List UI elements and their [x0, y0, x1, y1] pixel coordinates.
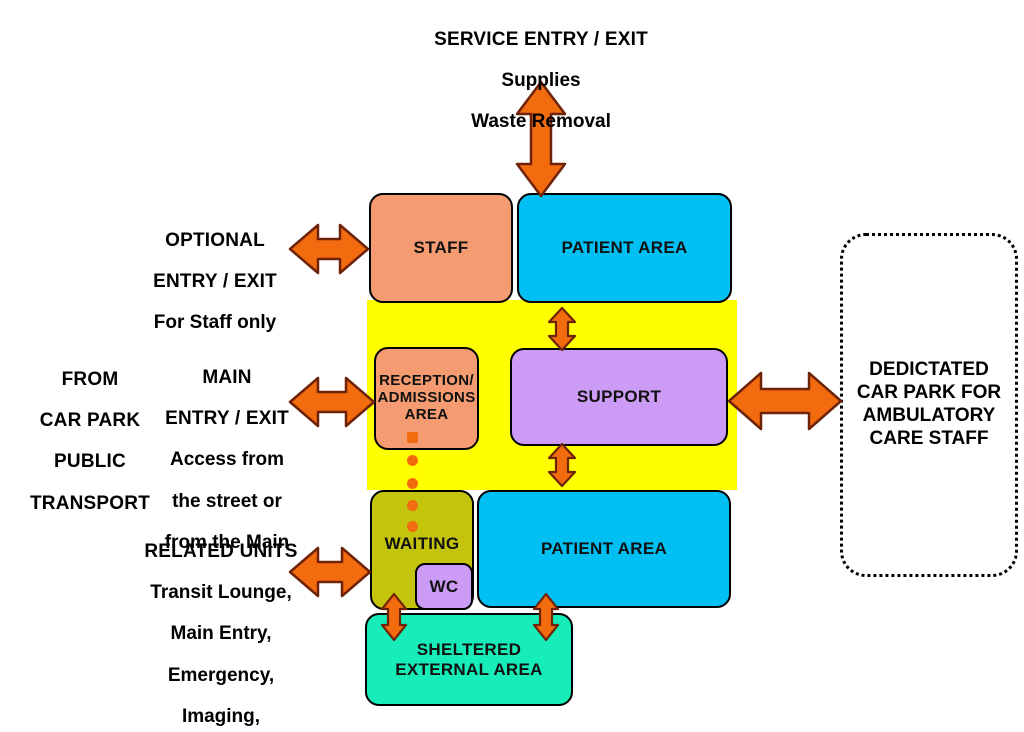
label-main-entry-line2: ENTRY / EXIT: [160, 408, 294, 430]
connector-dot: [407, 500, 418, 511]
connector-dot: [407, 478, 418, 489]
connector-dot: [407, 455, 418, 466]
block-patient-area-top-label: PATIENT AREA: [561, 238, 687, 257]
carpark-label: DEDICTATED CAR PARK FOR AMBULATORY CARE …: [857, 359, 1001, 450]
label-from-car-park-line4: TRANSPORT: [16, 493, 164, 515]
block-patient-area-bottom-label: PATIENT AREA: [541, 539, 667, 558]
label-from-car-park-line1: FROM: [16, 369, 164, 391]
label-main-entry-line4: the street or: [160, 491, 294, 513]
arrow-main-entry[interactable]: [288, 375, 376, 429]
arrow-support-lower[interactable]: [546, 442, 578, 488]
label-optional-entry-line3: For Staff only: [140, 312, 290, 334]
arrow-waiting-sheltered[interactable]: [379, 592, 409, 642]
label-optional-entry: OPTIONAL ENTRY / EXIT For Staff only: [140, 211, 290, 354]
arrow-carpark[interactable]: [727, 370, 843, 432]
label-related-units-line4: Emergency,: [126, 665, 316, 687]
arrow-support-upper[interactable]: [546, 306, 578, 352]
label-related-units-line2: Transit Lounge,: [126, 582, 316, 604]
label-optional-entry-line2: ENTRY / EXIT: [140, 271, 290, 293]
block-sheltered-label: SHELTERED EXTERNAL AREA: [395, 640, 542, 678]
block-patient-area-bottom[interactable]: PATIENT AREA: [477, 490, 731, 608]
label-related-units: RELATED UNITS Transit Lounge, Main Entry…: [126, 522, 316, 732]
label-optional-entry-line1: OPTIONAL: [140, 230, 290, 252]
label-service-entry-line1: SERVICE ENTRY / EXIT: [391, 29, 691, 51]
label-from-car-park-line3: PUBLIC: [16, 451, 164, 473]
block-staff[interactable]: STAFF: [369, 193, 513, 303]
block-waiting-label: WAITING: [385, 534, 460, 553]
block-staff-label: STAFF: [413, 238, 468, 257]
label-related-units-line3: Main Entry,: [126, 623, 316, 645]
block-reception-admissions[interactable]: RECEPTION/ ADMISSIONS AREA: [374, 347, 479, 450]
block-support-label: SUPPORT: [577, 387, 661, 406]
connector-dot: [407, 432, 418, 443]
label-related-units-line5: Imaging,: [126, 706, 316, 728]
label-from-car-park: FROM CAR PARK PUBLIC TRANSPORT: [16, 350, 164, 534]
label-service-entry-line3: Waste Removal: [391, 111, 691, 133]
label-from-car-park-line2: CAR PARK: [16, 410, 164, 432]
label-main-entry-line3: Access from: [160, 449, 294, 471]
block-patient-area-top[interactable]: PATIENT AREA: [517, 193, 732, 303]
label-main-entry-line1: MAIN: [160, 367, 294, 389]
label-service-entry: SERVICE ENTRY / EXIT Supplies Waste Remo…: [391, 10, 691, 153]
dedicated-car-park-zone[interactable]: DEDICTATED CAR PARK FOR AMBULATORY CARE …: [840, 233, 1018, 577]
block-wc-label: WC: [430, 577, 459, 596]
arrow-optional-entry[interactable]: [288, 222, 370, 276]
arrow-patient-sheltered[interactable]: [531, 592, 561, 642]
label-related-units-line1: RELATED UNITS: [126, 541, 316, 563]
block-wc[interactable]: WC: [415, 563, 473, 610]
block-reception-label: RECEPTION/ ADMISSIONS AREA: [377, 373, 475, 423]
connector-dot: [407, 521, 418, 532]
label-service-entry-line2: Supplies: [391, 70, 691, 92]
block-support[interactable]: SUPPORT: [510, 348, 728, 446]
diagram-canvas: DEDICTATED CAR PARK FOR AMBULATORY CARE …: [0, 0, 1024, 732]
